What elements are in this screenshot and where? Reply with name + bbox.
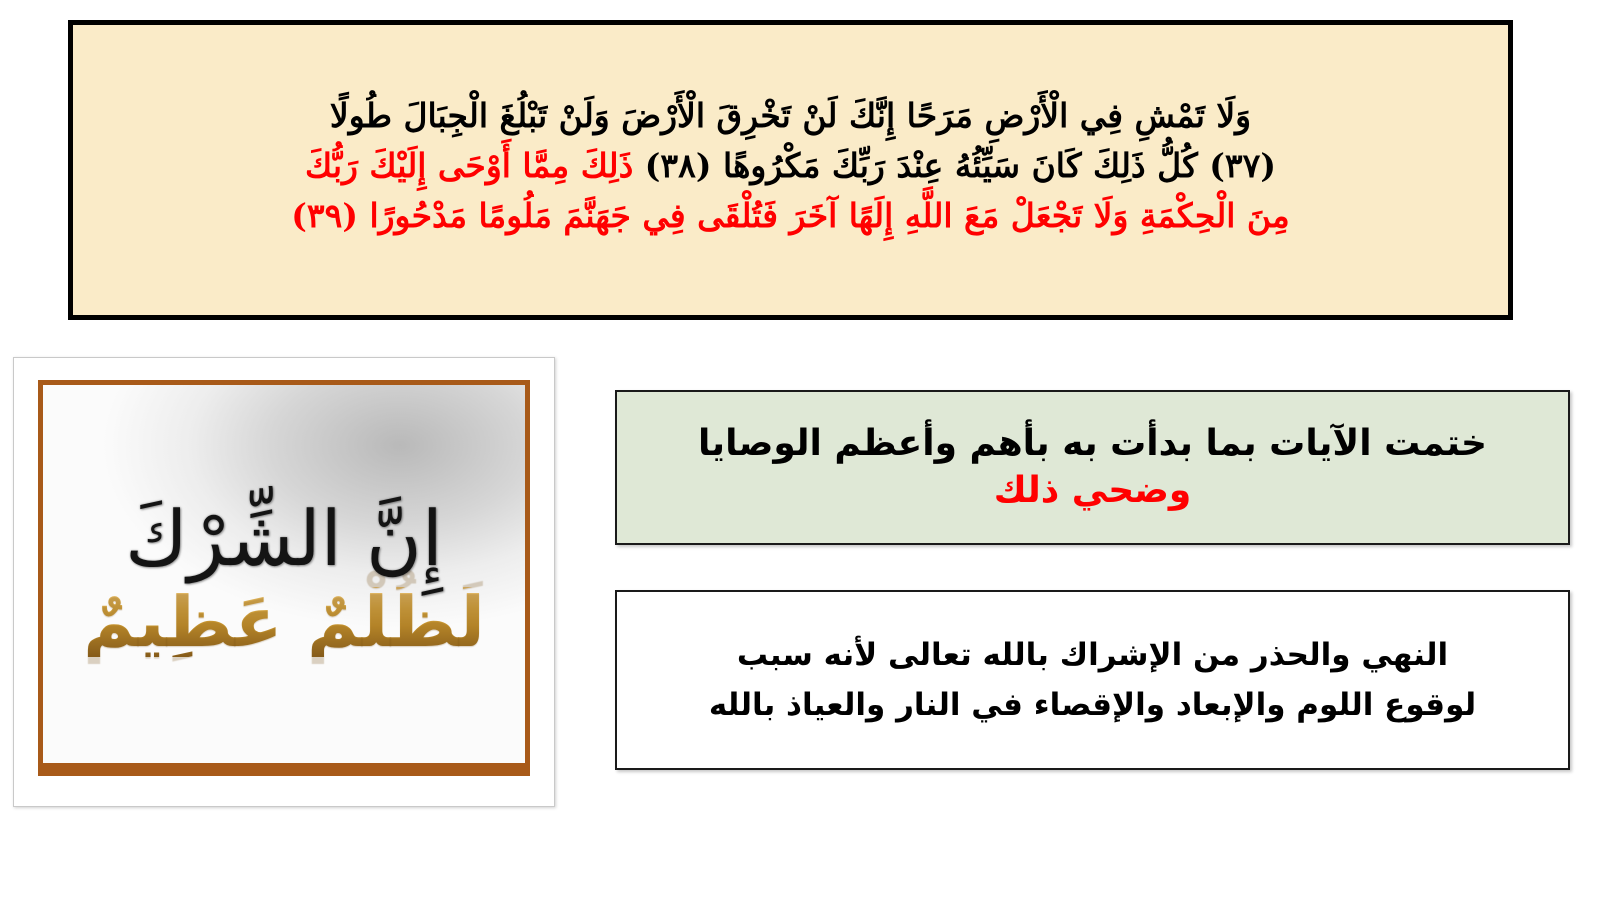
calligraphy-image: إِنَّ الشِّرْكَ لَظُلْمٌ عَظِيمٌ [38, 380, 530, 776]
verse-line-3-red-segment: مِنَ الْحِكْمَةِ وَلَا تَجْعَلْ مَعَ الل… [291, 196, 1289, 235]
verse-line-2-red-segment: ذَلِكَ مِمَّا أَوْحَى إِلَيْكَ رَبُّكَ [305, 146, 633, 185]
quran-verse-box: وَلَا تَمْشِ فِي الْأَرْضِ مَرَحًا إِنَّ… [68, 20, 1513, 320]
question-statement: ختمت الآيات بما بدأت به بأهم وأعظم الوصا… [698, 421, 1487, 467]
question-box: ختمت الآيات بما بدأت به بأهم وأعظم الوصا… [615, 390, 1570, 545]
verse-line-2: (٣٧) كُلُّ ذَلِكَ كَانَ سَيِّئُهُ عِنْدَ… [305, 141, 1276, 191]
explanation-line-2: لوقوع اللوم والإبعاد والإقصاء في النار و… [709, 680, 1476, 730]
calligraphy-bottom-line: لَظُلْمٌ عَظِيمٌ [83, 587, 485, 657]
explanation-box: النهي والحذر من الإشراك بالله تعالى لأنه… [615, 590, 1570, 770]
calligraphy-image-frame: إِنَّ الشِّرْكَ لَظُلْمٌ عَظِيمٌ [13, 357, 555, 807]
explanation-line-1: النهي والحذر من الإشراك بالله تعالى لأنه… [737, 630, 1448, 680]
verse-line-2-black-segment: (٣٧) كُلُّ ذَلِكَ كَانَ سَيِّئُهُ عِنْدَ… [633, 146, 1276, 185]
verse-line-1: وَلَا تَمْشِ فِي الْأَرْضِ مَرَحًا إِنَّ… [330, 91, 1251, 141]
verse-line-3: مِنَ الْحِكْمَةِ وَلَا تَجْعَلْ مَعَ الل… [291, 191, 1289, 241]
question-prompt: وضحي ذلك [994, 468, 1192, 514]
calligraphy-top-line: إِنَّ الشِّرْكَ [125, 501, 443, 577]
verse-line-1-black-segment: وَلَا تَمْشِ فِي الْأَرْضِ مَرَحًا إِنَّ… [330, 96, 1251, 135]
